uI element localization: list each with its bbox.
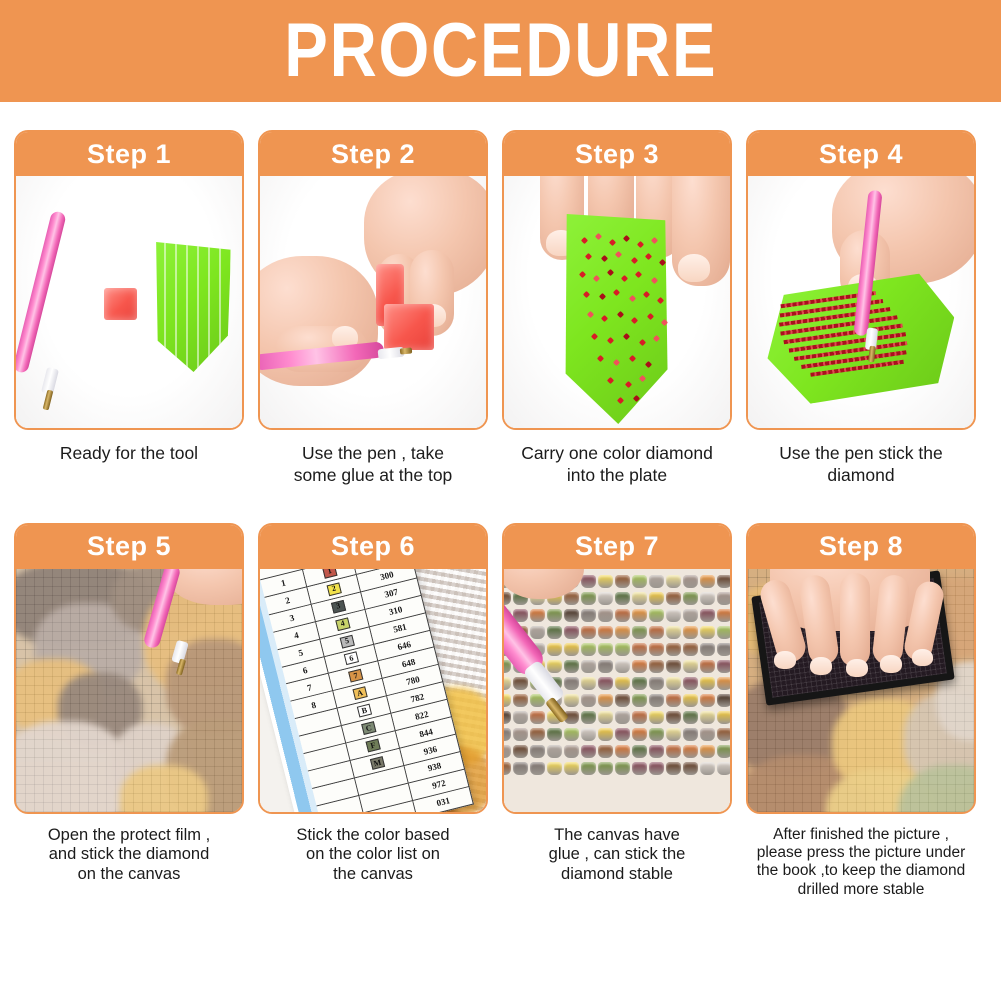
step-photo-3 <box>504 176 730 428</box>
diamond-bead <box>666 694 681 707</box>
step-label-6: Step 6 <box>331 533 415 560</box>
chart-symbol-chip: A <box>353 687 368 701</box>
diamond-bead <box>504 762 511 775</box>
diamond-bead <box>649 677 664 690</box>
steps-row-bottom: Step 5 <box>0 523 1001 899</box>
diamond-bead <box>564 626 579 639</box>
diamond-bead <box>649 643 664 656</box>
step-header-5: Step 5 <box>16 525 242 569</box>
diamond-bead <box>581 745 596 758</box>
diamond-bead <box>666 677 681 690</box>
diamond-bead <box>598 592 613 605</box>
diamond-bead <box>666 575 681 588</box>
diamond-bead <box>504 694 511 707</box>
step-photo-6: SerialSymbolDMC1122300333074431055581666… <box>260 569 486 812</box>
diamond-bead <box>700 762 715 775</box>
diamond-bead <box>615 626 630 639</box>
diamond-bead <box>504 711 511 724</box>
diamond-bead <box>717 711 730 724</box>
step-caption-4: Use the pen stick the diamond <box>746 442 976 487</box>
diamond-bead <box>700 592 715 605</box>
diamond-bead <box>632 575 647 588</box>
step-cell-5: Step 5 <box>14 523 244 899</box>
diamond-bead <box>700 609 715 622</box>
diamond-bead <box>530 745 545 758</box>
step-caption-6: Stick the color based on the color list … <box>258 826 488 884</box>
diamond-bead <box>615 575 630 588</box>
diamond-bead <box>504 745 511 758</box>
diamond-bead <box>717 575 730 588</box>
step-label-2: Step 2 <box>331 141 415 168</box>
step-header-1: Step 1 <box>16 132 242 176</box>
diamond-bead <box>564 660 579 673</box>
diamond-bead <box>598 643 613 656</box>
diamond-bead <box>598 711 613 724</box>
step-card-4: Step 4 <box>746 130 976 430</box>
chart-symbol-chip: 3 <box>331 600 346 614</box>
step-header-7: Step 7 <box>504 525 730 569</box>
diamond-bead <box>632 609 647 622</box>
diamond-bead <box>615 592 630 605</box>
chart-symbol-chip: 1 <box>323 569 338 579</box>
diamond-bead <box>615 745 630 758</box>
step-cell-8: Step 8 <box>746 523 976 899</box>
page-title: PROCEDURE <box>284 13 717 89</box>
step-caption-8: After finished the picture , please pres… <box>746 826 976 899</box>
step-cell-2: Step 2 <box>258 130 488 487</box>
step-cell-4: Step 4 <box>746 130 976 487</box>
step-photo-5 <box>16 569 242 812</box>
diamond-bead <box>683 677 698 690</box>
step-photo-2 <box>260 176 486 428</box>
step-card-1: Step 1 <box>14 130 244 430</box>
diamond-bead <box>683 711 698 724</box>
diamond-bead <box>717 592 730 605</box>
diamond-bead <box>649 711 664 724</box>
diamond-bead <box>581 643 596 656</box>
step-photo-7 <box>504 569 730 812</box>
diamond-bead <box>513 694 528 707</box>
diamond-bead <box>598 575 613 588</box>
step-card-6: Step 6 SerialSymbolDMC112230033307443105… <box>258 523 488 814</box>
diamond-bead <box>547 745 562 758</box>
diamond-bead <box>649 592 664 605</box>
diamond-bead <box>581 677 596 690</box>
diamond-bead <box>564 745 579 758</box>
chart-symbol-chip: 4 <box>336 617 351 631</box>
step-header-4: Step 4 <box>748 132 974 176</box>
diamond-bead <box>632 745 647 758</box>
diamond-bead <box>581 762 596 775</box>
diamond-bead <box>632 694 647 707</box>
diamond-bead <box>666 745 681 758</box>
diamond-bead <box>666 643 681 656</box>
diamond-bead <box>632 660 647 673</box>
diamond-bead <box>504 728 511 741</box>
diamond-bead <box>564 609 579 622</box>
diamond-bead <box>683 626 698 639</box>
step-cell-6: Step 6 SerialSymbolDMC112230033307443105… <box>258 523 488 899</box>
diamond-bead <box>717 694 730 707</box>
step-label-5: Step 5 <box>87 533 171 560</box>
step-photo-1 <box>16 176 242 428</box>
diamond-bead <box>632 592 647 605</box>
diamond-bead <box>683 643 698 656</box>
diamond-bead <box>513 728 528 741</box>
step-header-2: Step 2 <box>260 132 486 176</box>
diamond-bead <box>598 762 613 775</box>
chart-symbol-chip: F <box>366 739 381 753</box>
diamond-bead <box>717 677 730 690</box>
diamond-bead <box>632 677 647 690</box>
diamond-bead <box>683 694 698 707</box>
diamond-bead <box>717 643 730 656</box>
diamond-bead <box>581 575 596 588</box>
diamond-bead <box>700 643 715 656</box>
diamond-bead <box>666 626 681 639</box>
diamond-bead <box>513 762 528 775</box>
diamond-bead <box>581 728 596 741</box>
diamond-bead <box>504 677 511 690</box>
diamond-bead <box>564 643 579 656</box>
step-card-8: Step 8 <box>746 523 976 814</box>
diamond-bead <box>581 694 596 707</box>
diamond-bead <box>615 694 630 707</box>
steps-row-top: Step 1 <box>0 130 1001 487</box>
diamond-bead <box>598 677 613 690</box>
diamond-bead <box>649 694 664 707</box>
diamond-bead <box>615 660 630 673</box>
diamond-bead <box>700 694 715 707</box>
diamond-bead <box>700 660 715 673</box>
step-card-7: Step 7 <box>502 523 732 814</box>
step-label-7: Step 7 <box>575 533 659 560</box>
step-cell-1: Step 1 <box>14 130 244 487</box>
diamond-bead <box>683 575 698 588</box>
step-caption-7: The canvas have glue , can stick the dia… <box>502 826 732 884</box>
diamond-bead <box>649 762 664 775</box>
diamond-bead <box>564 762 579 775</box>
step-caption-5: Open the protect film , and stick the di… <box>14 826 244 884</box>
diamond-bead <box>530 626 545 639</box>
step-photo-8 <box>748 569 974 812</box>
diamond-bead <box>700 626 715 639</box>
diamond-bead <box>717 745 730 758</box>
diamond-bead <box>666 728 681 741</box>
chart-symbol-chip: 6 <box>344 652 359 666</box>
diamond-bead <box>700 728 715 741</box>
diamond-bead <box>615 762 630 775</box>
diamond-bead <box>700 745 715 758</box>
diamond-bead <box>598 745 613 758</box>
diamond-bead <box>666 711 681 724</box>
steps-grid: Step 1 <box>0 102 1001 899</box>
diamond-bead <box>564 677 579 690</box>
diamond-bead <box>649 626 664 639</box>
diamond-bead <box>504 592 511 605</box>
chart-symbol-chip: 2 <box>327 582 342 596</box>
step-header-8: Step 8 <box>748 525 974 569</box>
step-caption-1: Ready for the tool <box>14 442 244 464</box>
diamond-bead <box>615 728 630 741</box>
diamond-bead <box>717 728 730 741</box>
diamond-bead <box>666 609 681 622</box>
diamond-bead <box>683 745 698 758</box>
diamond-bead <box>683 728 698 741</box>
step-cell-3: Step 3 <box>502 130 732 487</box>
diamond-bead <box>632 626 647 639</box>
step-label-3: Step 3 <box>575 141 659 168</box>
diamond-bead <box>547 762 562 775</box>
chart-symbol-chip: B <box>357 704 372 718</box>
diamond-bead <box>649 609 664 622</box>
diamond-bead <box>581 609 596 622</box>
step-card-2: Step 2 <box>258 130 488 430</box>
diamond-bead <box>649 728 664 741</box>
diamond-bead <box>666 762 681 775</box>
diamond-bead <box>683 592 698 605</box>
diamond-bead <box>513 677 528 690</box>
diamond-bead <box>632 762 647 775</box>
step-label-8: Step 8 <box>819 533 903 560</box>
diamond-bead <box>717 660 730 673</box>
step-photo-4 <box>748 176 974 428</box>
diamond-bead <box>649 745 664 758</box>
diamond-bead <box>564 694 579 707</box>
step-card-5: Step 5 <box>14 523 244 814</box>
chart-symbol-chip: 5 <box>340 635 355 649</box>
diamond-bead <box>581 626 596 639</box>
diamond-bead <box>717 609 730 622</box>
diamond-bead <box>547 728 562 741</box>
diamond-bead <box>615 609 630 622</box>
diamond-bead <box>581 711 596 724</box>
diamond-bead <box>649 660 664 673</box>
chart-symbol-chip: M <box>370 756 385 770</box>
diamond-bead <box>683 762 698 775</box>
diamond-bead <box>615 643 630 656</box>
diamond-bead <box>581 592 596 605</box>
diamond-bead <box>683 609 698 622</box>
diamond-bead <box>649 575 664 588</box>
diamond-bead <box>717 762 730 775</box>
diamond-bead <box>598 609 613 622</box>
chart-symbol-chip: C <box>362 722 377 736</box>
diamond-bead <box>598 728 613 741</box>
diamond-bead <box>615 711 630 724</box>
step-header-3: Step 3 <box>504 132 730 176</box>
diamond-bead <box>530 609 545 622</box>
diamond-bead <box>513 745 528 758</box>
diamond-bead <box>598 660 613 673</box>
diamond-bead <box>598 694 613 707</box>
chart-symbol-chip: 7 <box>349 669 364 683</box>
step-caption-3: Carry one color diamond into the plate <box>502 442 732 487</box>
diamond-bead <box>666 660 681 673</box>
diamond-bead <box>547 609 562 622</box>
diamond-bead <box>581 660 596 673</box>
diamond-bead <box>530 711 545 724</box>
diamond-bead <box>632 643 647 656</box>
diamond-bead <box>530 728 545 741</box>
diamond-bead <box>598 626 613 639</box>
step-caption-2: Use the pen , take some glue at the top <box>258 442 488 487</box>
diamond-bead <box>564 728 579 741</box>
diamond-bead <box>700 575 715 588</box>
diamond-bead <box>513 711 528 724</box>
step-label-4: Step 4 <box>819 141 903 168</box>
diamond-bead <box>547 643 562 656</box>
diamond-bead <box>547 626 562 639</box>
diamond-bead <box>717 626 730 639</box>
diamond-bead <box>700 711 715 724</box>
procedure-infographic: PROCEDURE Step 1 <box>0 0 1001 1001</box>
step-card-3: Step 3 <box>502 130 732 430</box>
diamond-bead <box>700 677 715 690</box>
step-cell-7: Step 7 The canvas have glue , can stick … <box>502 523 732 899</box>
diamond-bead <box>666 592 681 605</box>
diamond-bead <box>615 677 630 690</box>
diamond-bead <box>530 762 545 775</box>
page-header-banner: PROCEDURE <box>0 0 1001 102</box>
diamond-bead <box>547 660 562 673</box>
step-label-1: Step 1 <box>87 141 171 168</box>
diamond-bead <box>683 660 698 673</box>
diamond-bead <box>632 711 647 724</box>
diamond-bead <box>632 728 647 741</box>
step-header-6: Step 6 <box>260 525 486 569</box>
